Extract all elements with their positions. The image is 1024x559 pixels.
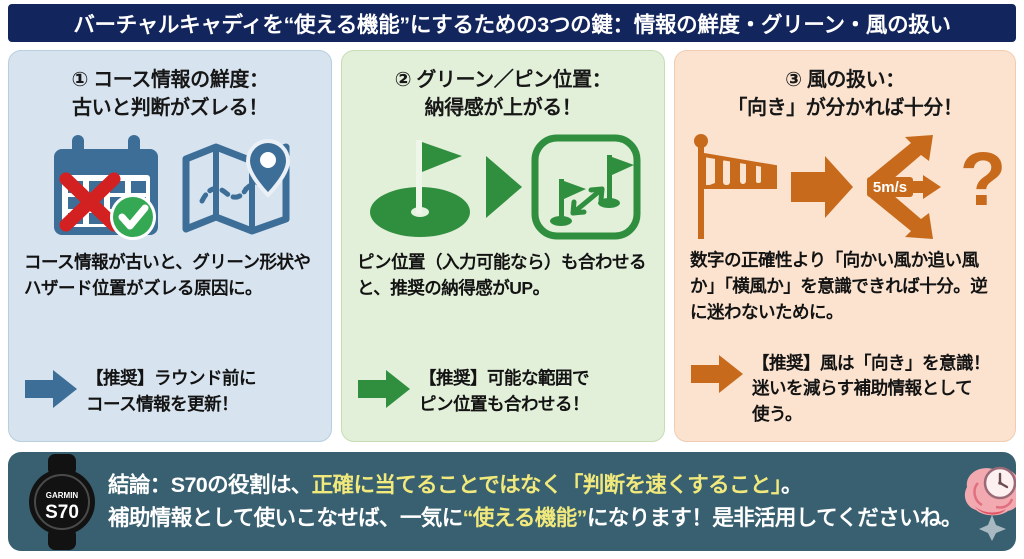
brain-clock-icon xyxy=(960,463,1016,541)
panel-wind-handling: ③ 風の扱い： 「向き」が分かれば十分！ xyxy=(674,50,1016,442)
calendar-icon xyxy=(44,131,174,243)
wind-speed-label: 5m/s xyxy=(873,179,907,196)
panel-1-rec-line2: コース情報を更新！ xyxy=(86,392,256,417)
triangle-arrow-icon xyxy=(482,150,524,224)
panel-course-freshness: ① コース情報の鮮度： 古いと判断がズレる！ xyxy=(8,50,332,442)
right-arrow-icon xyxy=(691,353,743,395)
conclusion-line2-part2: になります！是非活用してくださいね。 xyxy=(587,506,962,530)
conclusion-line2-part1: 補助情報として使いこなせば、一気に xyxy=(108,506,463,530)
panel-3-heading-line1: ③ 風の扱い： xyxy=(687,67,1003,95)
panel-1-recommendation: 【推奨】ラウンド前に コース情報を更新！ xyxy=(21,364,319,433)
conclusion-line2-highlight: “使える機能” xyxy=(463,506,587,530)
conclusion-line1-highlight2: 「判断を速くすること」 xyxy=(562,473,781,497)
panel-2-icon-row xyxy=(354,126,652,248)
pin-distance-box-icon xyxy=(530,133,642,241)
panel-3-icon-row: 5m/s ? xyxy=(687,126,1003,248)
panel-2-rec-line1: 【推奨】可能な範囲で xyxy=(419,366,589,391)
conclusion-line1-part2: 。 xyxy=(781,473,802,497)
page-title: バーチャルキャディを“使える機能”にするための3つの鍵：情報の鮮度・グリーン・風… xyxy=(73,8,950,39)
panel-3-rec-line1: 【推奨】風は「向き」を意識！ xyxy=(752,351,990,376)
garmin-watch-icon: GARMIN S70 xyxy=(22,454,102,550)
golf-green-flag-icon xyxy=(364,132,476,242)
right-arrow-icon xyxy=(789,148,855,226)
title-bar: バーチャルキャディを“使える機能”にするための3つの鍵：情報の鮮度・グリーン・風… xyxy=(8,4,1016,42)
panel-1-rec-line1: 【推奨】ラウンド前に xyxy=(86,366,256,391)
panel-3-recommendation-text: 【推奨】風は「向き」を意識！ 迷いを減らす補助情報として 使う。 xyxy=(752,349,990,427)
right-arrow-icon xyxy=(25,368,77,410)
panel-1-heading-line2: 古いと判断がズレる！ xyxy=(21,95,319,123)
map-pin-icon xyxy=(180,137,296,237)
panel-1-recommendation-text: 【推奨】ラウンド前に コース情報を更新！ xyxy=(86,364,256,417)
green-check-icon xyxy=(110,194,156,240)
panel-1-icon-row xyxy=(21,126,319,248)
panel-2-body: ピン位置（入力可能なら）も合わせると、推奨の納得感がUP。 xyxy=(354,250,652,302)
panel-2-heading-line1: ② グリーン／ピン位置： xyxy=(354,67,652,95)
wind-speed-arrow: 5m/s xyxy=(867,175,941,199)
conclusion-line-2: 補助情報として使いこなせば、一気に“使える機能”になります！是非活用してください… xyxy=(108,502,962,535)
panel-3-body: 数字の正確性より「向かい風か追い風か」「横風か」を意識できれば十分。逆に迷わない… xyxy=(687,248,1003,326)
conclusion-line1-part1: 結論：S70の役割は、 xyxy=(108,473,312,497)
panel-2-recommendation-text: 【推奨】可能な範囲で ピン位置も合わせる！ xyxy=(419,364,589,417)
panel-3-heading-line2: 「向き」が分かれば十分！ xyxy=(687,95,1003,123)
watch-model-label: S70 xyxy=(45,502,79,523)
question-mark-icon: ? xyxy=(963,143,1003,231)
watch-brand-label: GARMIN xyxy=(46,491,79,500)
panel-2-heading: ② グリーン／ピン位置： 納得感が上がる！ xyxy=(354,67,652,122)
panel-1-body: コース情報が古いと、グリーン形状やハザード位置がズレる原因に。 xyxy=(21,250,319,302)
panel-3-recommendation: 【推奨】風は「向き」を意識！ 迷いを減らす補助情報として 使う。 xyxy=(687,349,1003,433)
windsock-icon xyxy=(687,131,783,243)
panel-2-rec-line2: ピン位置も合わせる！ xyxy=(419,392,589,417)
panel-2-recommendation: 【推奨】可能な範囲で ピン位置も合わせる！ xyxy=(354,364,652,433)
conclusion-line-1: 結論：S70の役割は、正確に当てることではなく「判断を速くすること」。 xyxy=(108,469,962,502)
conclusion-line1-highlight1: 正確に当てることではなく xyxy=(312,473,562,497)
diverging-arrows-icon: 5m/s xyxy=(861,133,957,241)
panel-green-pin-position: ② グリーン／ピン位置： 納得感が上がる！ xyxy=(341,50,665,442)
panels-row: ① コース情報の鮮度： 古いと判断がズレる！ xyxy=(8,50,1016,442)
panel-1-heading: ① コース情報の鮮度： 古いと判断がズレる！ xyxy=(21,67,319,122)
conclusion-text: 結論：S70の役割は、正確に当てることではなく「判断を速くすること」。 補助情報… xyxy=(108,469,962,534)
infographic-root: バーチャルキャディを“使える機能”にするための3つの鍵：情報の鮮度・グリーン・風… xyxy=(0,0,1024,559)
question-mark-glyph: ? xyxy=(963,143,1003,222)
panel-3-rec-line2: 迷いを減らす補助情報として xyxy=(752,376,990,401)
panel-2-heading-line2: 納得感が上がる！ xyxy=(354,95,652,123)
panel-1-heading-line1: ① コース情報の鮮度： xyxy=(21,67,319,95)
conclusion-bar: GARMIN S70 結論：S70の役割は、正確に当てることではなく「判断を速く… xyxy=(8,452,1016,551)
panel-3-heading: ③ 風の扱い： 「向き」が分かれば十分！ xyxy=(687,67,1003,122)
panel-3-rec-line3: 使う。 xyxy=(752,402,990,427)
right-arrow-icon xyxy=(358,368,410,410)
